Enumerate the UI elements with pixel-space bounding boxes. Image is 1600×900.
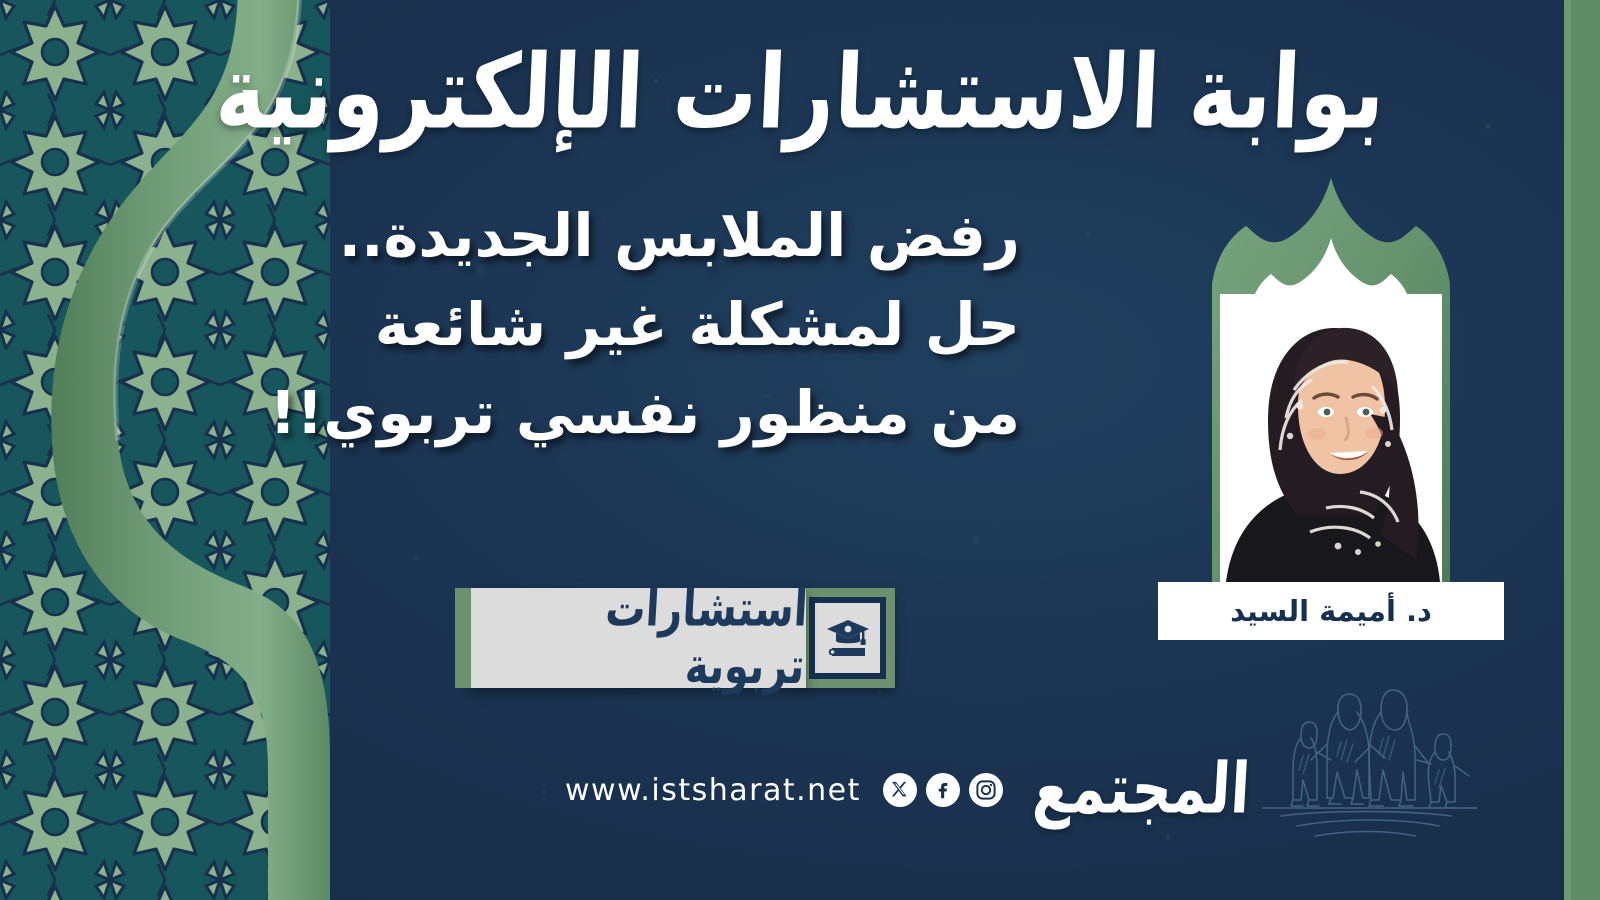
headline-block: رفض الملابس الجديدة.. حل لمشكلة غير شائع…: [360, 198, 1020, 452]
footer-bar: المجتمع www.istsharat.net: [565, 762, 1250, 818]
poster-canvas: بوابة الاستشارات الإلكترونية رفض الملابس…: [0, 0, 1600, 900]
facebook-icon: [932, 779, 954, 801]
headline-line-3: من منظور نفسي تربوي!!: [360, 375, 1020, 452]
author-card: د. أميمة السيد: [1158, 172, 1504, 640]
brand-calligraphy-text: بوابة الاستشارات الإلكترونية: [213, 33, 1387, 151]
badge-icon-frame: [800, 588, 895, 688]
author-nameplate: د. أميمة السيد: [1158, 582, 1504, 640]
category-badge[interactable]: استشارات تربوية: [455, 588, 895, 688]
x-twitter-link[interactable]: [883, 773, 917, 807]
mujtama-logo-calligraphy: المجتمع: [1031, 755, 1252, 825]
social-links: [883, 773, 1003, 807]
author-name: د. أميمة السيد: [1230, 594, 1432, 628]
graduation-cap-and-book-icon: [825, 617, 871, 659]
badge-label: استشارات تربوية: [468, 581, 809, 696]
badge-label-panel: استشارات تربوية: [471, 588, 806, 688]
headline-line-1: رفض الملابس الجديدة..: [360, 198, 1020, 275]
headline-line-2: حل لمشكلة غير شائعة: [360, 287, 1020, 364]
website-url[interactable]: www.istsharat.net: [565, 773, 861, 808]
mihrab-arch-frame: [1158, 172, 1504, 582]
avatar: [1220, 294, 1442, 582]
brand-header: بوابة الاستشارات الإلكترونية: [0, 44, 1600, 141]
instagram-link[interactable]: [969, 773, 1003, 807]
x-twitter-icon: [889, 779, 911, 801]
family-line-art-illustration: [1245, 660, 1515, 860]
instagram-icon: [975, 779, 997, 801]
facebook-link[interactable]: [926, 773, 960, 807]
